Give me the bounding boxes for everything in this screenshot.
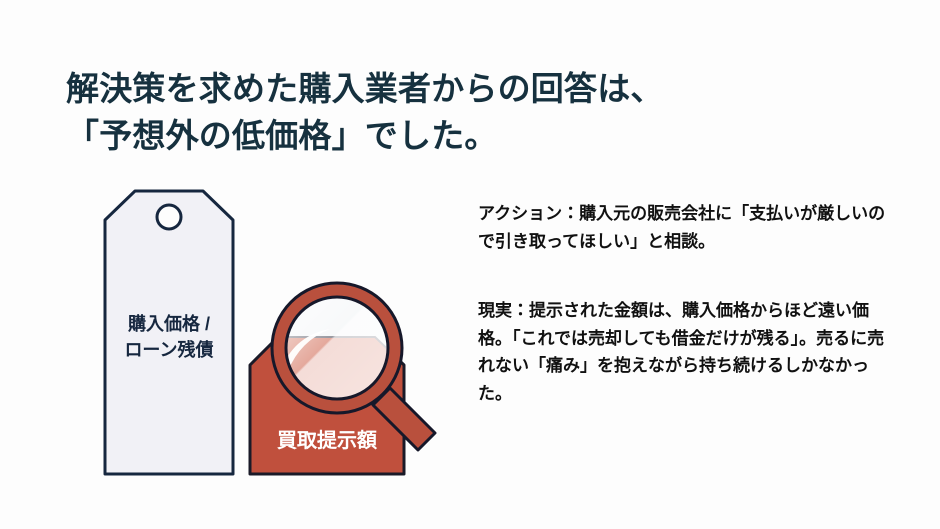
copy-paragraph-action: アクション：購入元の販売会社に「支払いが厳しいので引き取ってほしい」と相談。 <box>478 200 898 255</box>
purchase-price-tag: 購入価格 / ローン残債 <box>105 191 233 474</box>
purchase-price-tag-label-line2: ローン残債 <box>124 339 213 360</box>
tag-eyelet-hole-icon <box>157 205 181 229</box>
page-title: 解決策を求めた購入業者からの回答は、 「予想外の低価格」でした。 <box>66 66 896 160</box>
body-copy: アクション：購入元の販売会社に「支払いが厳しいので引き取ってほしい」と相談。 現… <box>478 200 898 407</box>
purchase-price-tag-label-line1: 購入価格 / <box>127 313 210 334</box>
slide-canvas: 解決策を求めた購入業者からの回答は、 「予想外の低価格」でした。 購入価格 / … <box>0 0 940 529</box>
offer-price-tag-label: 買取提示額 <box>277 428 378 452</box>
price-comparison-graphic: 購入価格 / ローン残債 買取提示額 <box>60 175 460 495</box>
copy-paragraph-reality: 現実：提示された金額は、購入価格からほど遠い価格。「これでは売却しても借金だけが… <box>478 297 898 407</box>
